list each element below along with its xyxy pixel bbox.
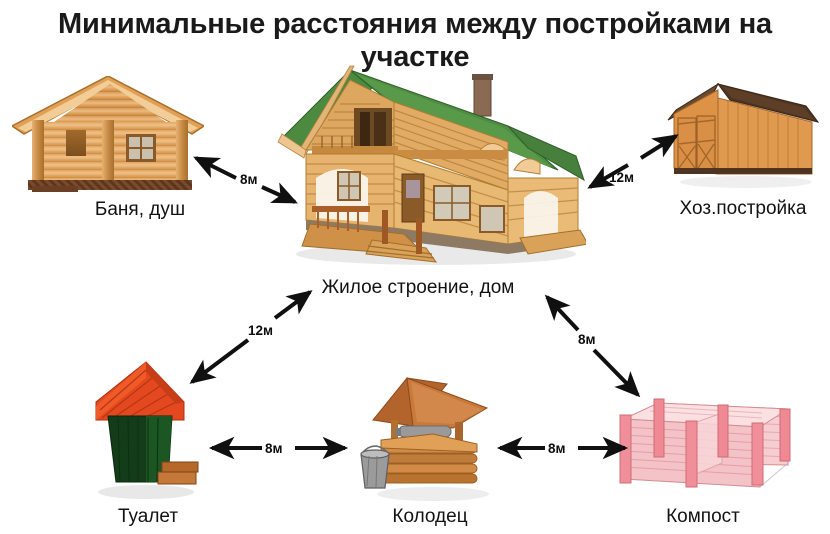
- label-well: Колодец: [370, 506, 490, 528]
- building-shed: [666, 78, 822, 190]
- banya-door: [66, 130, 86, 156]
- label-shed: Хоз.постройка: [656, 198, 830, 220]
- label-house: Жилое строение, дом: [283, 277, 553, 299]
- arrow-house-to-banya: [196, 158, 236, 178]
- distance-toilet-well: 8м: [265, 441, 283, 456]
- label-toilet: Туалет: [88, 506, 208, 528]
- building-well: [355, 372, 505, 505]
- diagram-canvas: Минимальные расстояния между постройками…: [0, 0, 830, 534]
- distance-banya-house: 8м: [240, 172, 258, 187]
- building-toilet: [88, 358, 208, 503]
- distance-house-compost: 8м: [578, 332, 596, 347]
- building-banya: [18, 62, 198, 190]
- distance-well-compost: 8м: [548, 441, 566, 456]
- banya-corner-post-mid: [102, 120, 114, 184]
- label-banya: Баня, душ: [60, 199, 220, 221]
- building-compost: [610, 375, 800, 505]
- banya-window: [126, 134, 156, 162]
- banya-step: [32, 186, 78, 192]
- distance-house-shed: 12м: [609, 170, 634, 185]
- label-compost: Компост: [628, 506, 778, 528]
- banya-corner-post-right: [176, 120, 188, 184]
- banya-corner-post-left: [32, 120, 44, 184]
- arrow-compost-to-house: [547, 297, 578, 330]
- building-house: [276, 58, 586, 268]
- distance-house-toilet: 12м: [248, 323, 273, 338]
